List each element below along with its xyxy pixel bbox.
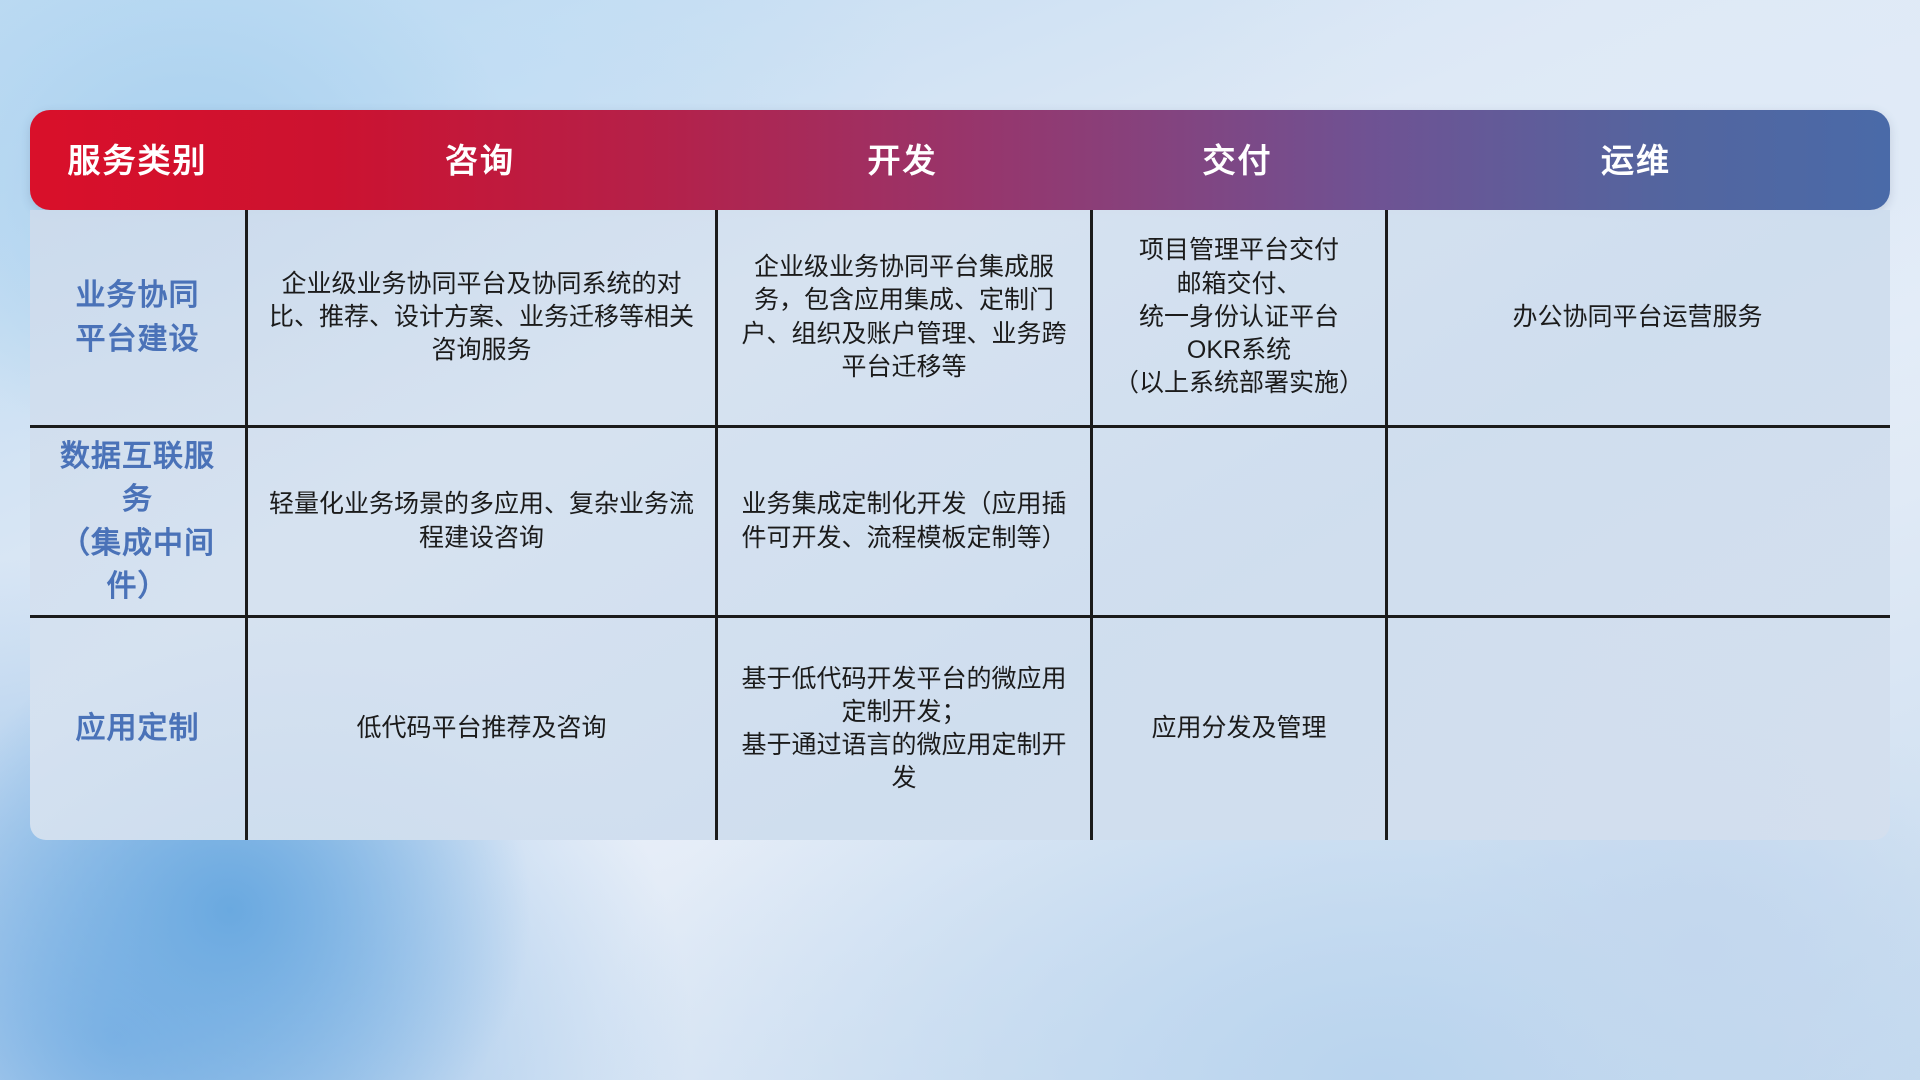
column-header-development: 开发 [715, 144, 1090, 177]
cell-operations [1385, 428, 1887, 615]
cell-operations [1385, 618, 1887, 840]
cell-delivery [1090, 428, 1385, 615]
cell-development: 业务集成定制化开发（应用插件可开发、流程模板定制等） [715, 428, 1090, 615]
column-header-delivery: 交付 [1090, 144, 1385, 177]
column-header-consulting: 咨询 [245, 144, 715, 177]
cell-delivery: 应用分发及管理 [1090, 618, 1385, 840]
table-row: 数据互联服务 （集成中间件） 轻量化业务场景的多应用、复杂业务流程建设咨询 业务… [30, 425, 1890, 615]
cell-development: 企业级业务协同平台集成服务，包含应用集成、定制门户、组织及账户管理、业务跨平台迁… [715, 210, 1090, 425]
column-header-operations: 运维 [1385, 144, 1887, 177]
table-row: 业务协同 平台建设 企业级业务协同平台及协同系统的对比、推荐、设计方案、业务迁移… [30, 210, 1890, 425]
row-category-label: 数据互联服务 （集成中间件） [30, 428, 245, 615]
cell-operations: 办公协同平台运营服务 [1385, 210, 1887, 425]
cell-consulting: 企业级业务协同平台及协同系统的对比、推荐、设计方案、业务迁移等相关咨询服务 [245, 210, 715, 425]
cell-development: 基于低代码开发平台的微应用定制开发； 基于通过语言的微应用定制开发 [715, 618, 1090, 840]
table-body: 业务协同 平台建设 企业级业务协同平台及协同系统的对比、推荐、设计方案、业务迁移… [30, 210, 1890, 840]
cell-consulting: 低代码平台推荐及咨询 [245, 618, 715, 840]
cell-delivery: 项目管理平台交付 邮箱交付、 统一身份认证平台 OKR系统 （以上系统部署实施） [1090, 210, 1385, 425]
cell-consulting: 轻量化业务场景的多应用、复杂业务流程建设咨询 [245, 428, 715, 615]
row-category-label: 业务协同 平台建设 [30, 210, 245, 425]
row-category-label: 应用定制 [30, 618, 245, 840]
table-header-row: 服务类别 咨询 开发 交付 运维 [30, 110, 1890, 210]
table-row: 应用定制 低代码平台推荐及咨询 基于低代码开发平台的微应用定制开发； 基于通过语… [30, 615, 1890, 840]
column-header-category: 服务类别 [30, 144, 245, 177]
service-matrix-table: 服务类别 咨询 开发 交付 运维 业务协同 平台建设 企业级业务协同平台及协同系… [30, 110, 1890, 840]
